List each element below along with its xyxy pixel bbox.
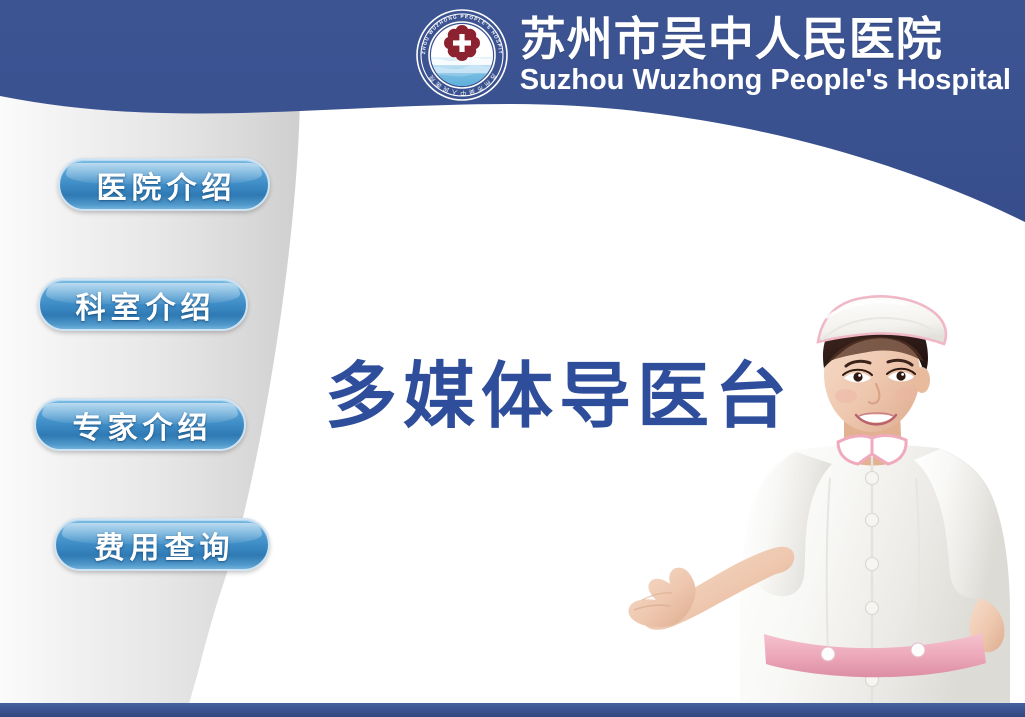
sidebar-item-hospital-intro[interactable]: 医院介绍 (58, 158, 270, 211)
sidebar-item-label: 专家介绍 (68, 403, 213, 447)
hospital-title-en: Suzhou Wuzhong People's Hospital (520, 66, 1011, 95)
sidebar-item-fee-inquiry[interactable]: 费用查询 (54, 518, 270, 571)
sidebar-item-label: 费用查询 (90, 523, 235, 567)
sidebar-item-department-intro[interactable]: 科室介绍 (38, 278, 248, 331)
nurse-presenting-photo (600, 282, 1025, 703)
sidebar-nav: 医院介绍 科室介绍 专家介绍 费用查询 (0, 0, 340, 717)
sidebar-item-expert-intro[interactable]: 专家介绍 (34, 398, 246, 451)
footer-bar (0, 703, 1025, 717)
kiosk-screen: SUZHOU WUZHONG PEOPLE'S HOSPITAL 苏州市吴中人民… (0, 0, 1025, 717)
hospital-emblem-icon: SUZHOU WUZHONG PEOPLE'S HOSPITAL 苏州市吴中人民… (414, 7, 510, 103)
sidebar-item-label: 科室介绍 (71, 283, 216, 327)
sidebar-item-label: 医院介绍 (92, 163, 237, 207)
hospital-title-block: 苏州市吴中人民医院 Suzhou Wuzhong People's Hospit… (520, 16, 1011, 95)
hospital-title-cn: 苏州市吴中人民医院 (520, 16, 943, 62)
page-title: 多媒体导医台 (325, 360, 793, 432)
